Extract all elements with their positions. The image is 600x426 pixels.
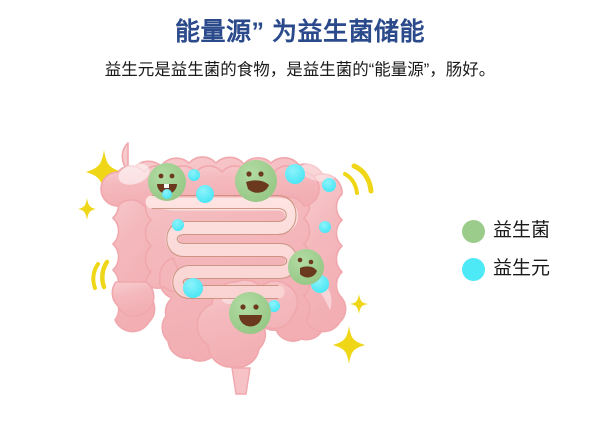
prebiotic-dot-3: [285, 164, 305, 184]
page-subtitle: 益生元是益生菌的食物，是益生菌的“能量源”，肠好。: [65, 48, 535, 82]
legend-label-prebiotics: 益生元: [493, 258, 550, 280]
probiotic-eye-right: [170, 174, 175, 179]
intestine-illustration: [72, 132, 432, 412]
prebiotic-dot-4: [322, 178, 336, 192]
header: 能量源” 为益生菌储能 益生元是益生菌的食物，是益生菌的“能量源”，肠好。: [0, 0, 600, 82]
prebiotic-dot-6: [172, 219, 184, 231]
probiotic-face-upper-left: [148, 163, 186, 201]
probiotic-face-right: [288, 249, 324, 285]
motion-arc-left-icon: [102, 262, 107, 287]
anal-canal-path: [232, 368, 250, 394]
prebiotic-dot-5: [319, 221, 331, 233]
motion-arc-top-right-icon-2: [345, 174, 357, 193]
sparkle-small-right-icon: [350, 294, 368, 314]
sparkle-large-bottom-right-icon: [333, 326, 365, 364]
probiotic-body: [229, 292, 271, 334]
page-title: 能量源” 为益生菌储能: [0, 0, 600, 48]
green-circle-icon: [462, 220, 485, 243]
prebiotic-dot-7: [183, 278, 203, 298]
probiotic-eye-right: [309, 260, 314, 265]
probiotic-eye-left: [240, 304, 245, 309]
legend-item-probiotics: 益生菌: [462, 212, 592, 250]
poster-root: 能量源” 为益生菌储能 益生元是益生菌的食物，是益生菌的“能量源”，肠好。: [0, 0, 600, 426]
motion-arc-left-icon-2: [93, 264, 98, 288]
probiotic-eye-left: [159, 174, 164, 179]
cyan-circle-icon: [462, 258, 485, 281]
probiotic-tooth: [164, 184, 169, 188]
probiotic-eye-right: [258, 171, 263, 176]
prebiotic-dot-1: [188, 169, 200, 181]
probiotic-eye-right: [253, 304, 258, 309]
legend-label-probiotics: 益生菌: [493, 220, 550, 242]
probiotic-eye-left: [298, 258, 303, 263]
sparkle-small-left-icon: [78, 198, 96, 220]
legend: 益生菌 益生元: [462, 212, 592, 288]
probiotic-face-sigmoid: [229, 292, 271, 334]
probiotic-tongue-dot: [162, 189, 172, 199]
prebiotic-dot-2: [196, 185, 214, 203]
probiotic-eye-left: [246, 171, 251, 176]
probiotic-face-top-center: [235, 160, 277, 202]
legend-item-prebiotics: 益生元: [462, 250, 592, 288]
